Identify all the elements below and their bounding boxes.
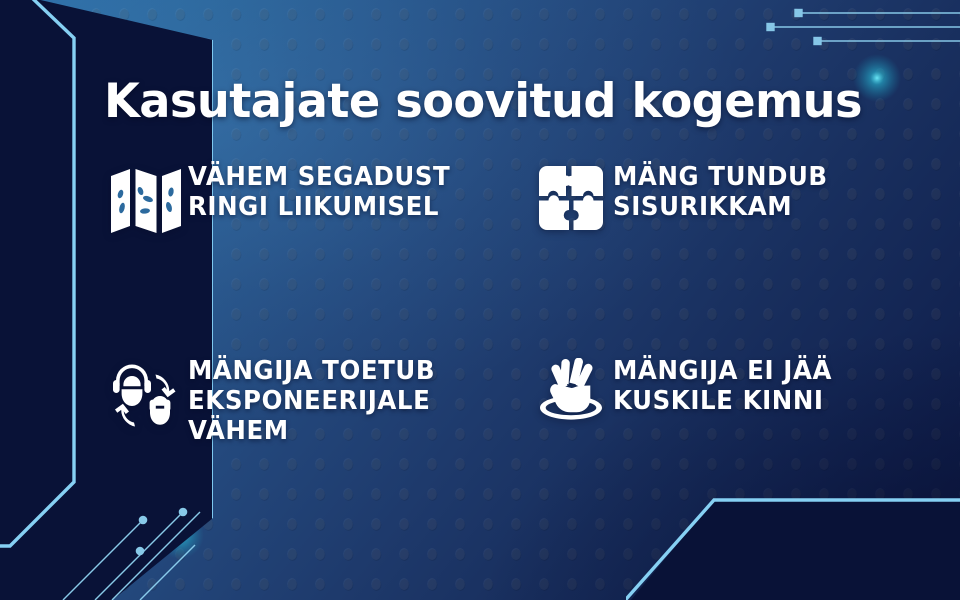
hand-in-hole-icon (529, 354, 613, 438)
support-handoff-icon (104, 354, 188, 438)
puzzle-pieces-icon (529, 160, 613, 244)
slide-root: Kasutajate soovitud kogemus (0, 0, 960, 600)
row-spacer (104, 244, 924, 354)
feature-label: VÄHEM SEGADUST RINGI LIIKUMISEL (188, 160, 505, 222)
feature-row: MÄNGIJA TOETUB EKSPONEERIJALE VÄHEM (104, 354, 924, 446)
feature-label: MÄNGIJA TOETUB EKSPONEERIJALE VÄHEM (188, 354, 505, 446)
slide-content: Kasutajate soovitud kogemus (0, 0, 960, 600)
folded-map-icon (104, 160, 188, 244)
feature-item-less-reliance-on-exhibitor: MÄNGIJA TOETUB EKSPONEERIJALE VÄHEM (104, 354, 529, 446)
feature-row: VÄHEM SEGADUST RINGI LIIKUMISEL (104, 160, 924, 244)
feature-grid: VÄHEM SEGADUST RINGI LIIKUMISEL (104, 160, 924, 446)
feature-item-game-feels-richer: MÄNG TUNDUB SISURIKKAM (529, 160, 924, 244)
feature-item-less-confusion-navigating: VÄHEM SEGADUST RINGI LIIKUMISEL (104, 160, 529, 244)
feature-label: MÄNG TUNDUB SISURIKKAM (613, 160, 912, 222)
feature-label: MÄNGIJA EI JÄÄ KUSKILE KINNI (613, 354, 912, 416)
feature-item-player-never-gets-stuck: MÄNGIJA EI JÄÄ KUSKILE KINNI (529, 354, 924, 446)
page-title: Kasutajate soovitud kogemus (104, 74, 862, 129)
